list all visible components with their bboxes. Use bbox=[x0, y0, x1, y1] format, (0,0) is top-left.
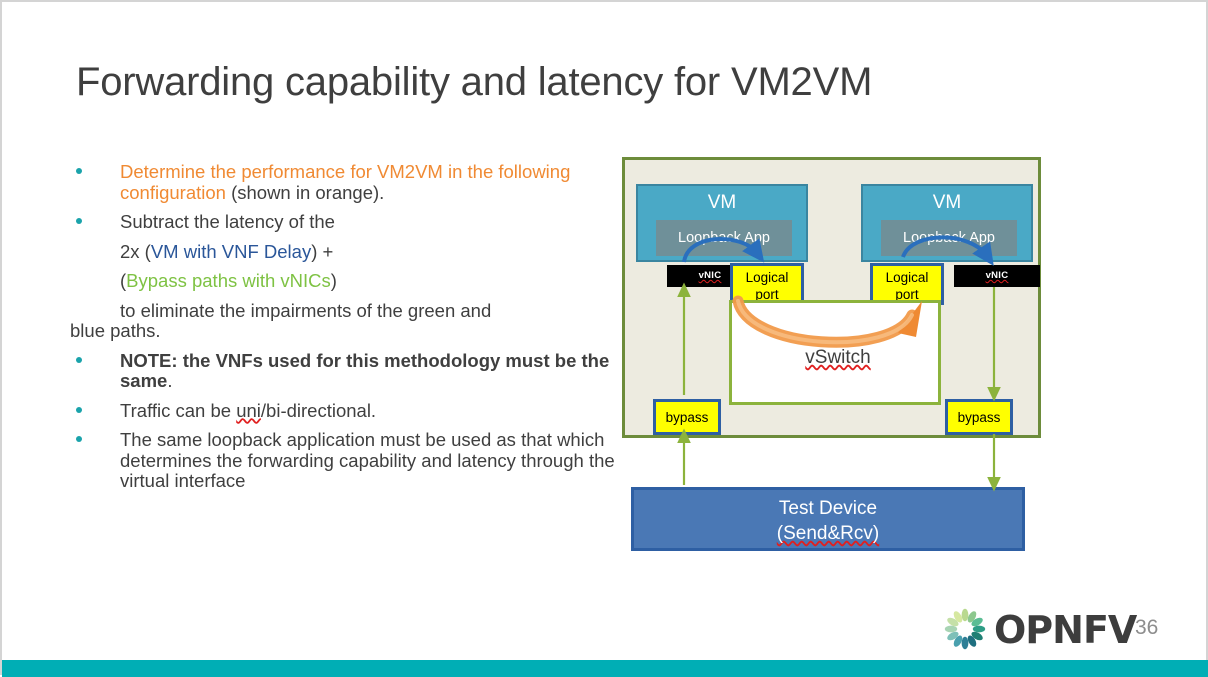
logical-port-left-line1: Logical bbox=[733, 269, 801, 286]
page-number: 36 bbox=[1135, 616, 1158, 640]
text-run: NOTE: the VNFs used for this methodology… bbox=[120, 350, 609, 392]
bullet-item: The same loopback application must be us… bbox=[70, 430, 615, 492]
bullet-item: Subtract the latency of the bbox=[70, 212, 615, 233]
text-run: Subtract the latency of the bbox=[120, 211, 335, 232]
vm-left: VM Loopback App bbox=[636, 184, 808, 262]
text-run: to eliminate the impairments of the gree… bbox=[120, 300, 491, 321]
vm-right-loopback-app: Loopback App bbox=[881, 220, 1017, 256]
opnfv-wordmark: OPNFV bbox=[994, 608, 1136, 652]
text-run: Bypass paths with vNICs bbox=[126, 270, 331, 291]
vnic-left-label: vNIC bbox=[699, 270, 722, 281]
vm-left-label: VM bbox=[638, 192, 806, 214]
text-run: ) + bbox=[311, 241, 333, 262]
test-device-line2: (Send&Rcv) bbox=[634, 523, 1022, 545]
vswitch-label: vSwitch bbox=[732, 347, 944, 369]
text-run: (shown in orange). bbox=[226, 182, 384, 203]
bullet-subline: 2x (VM with VNF Delay) + bbox=[70, 242, 615, 263]
bypass-right: bypass bbox=[945, 399, 1013, 435]
bullet-item: Traffic can be uni/bi-directional. bbox=[70, 401, 615, 422]
bullet-text: The same loopback application must be us… bbox=[120, 429, 615, 491]
bullet-dot-icon bbox=[76, 218, 82, 224]
bullet-dot-icon bbox=[76, 436, 82, 442]
bypass-left: bypass bbox=[653, 399, 721, 435]
text-run: blue paths. bbox=[70, 320, 161, 341]
test-device-line1: Test Device bbox=[779, 498, 877, 519]
vm-right-label: VM bbox=[863, 192, 1031, 214]
vswitch-box: vSwitch bbox=[729, 300, 941, 405]
bullet-dot-icon bbox=[76, 168, 82, 174]
logical-port-right: Logical port bbox=[870, 263, 944, 305]
footer: OPNFV 36 bbox=[942, 602, 1172, 652]
vnic-right-label: vNIC bbox=[986, 270, 1009, 281]
bullet-list: Determine the performance for VM2VM in t… bbox=[70, 162, 615, 501]
architecture-diagram: VM Loopback App VM Loopback App vNIC vNI… bbox=[622, 157, 1042, 559]
host-container: VM Loopback App VM Loopback App vNIC vNI… bbox=[622, 157, 1041, 438]
bullet-dot-icon bbox=[76, 407, 82, 413]
vm-left-loopback-app: Loopback App bbox=[656, 220, 792, 256]
text-run: VM with VNF Delay bbox=[151, 241, 311, 262]
bullet-text: (Bypass paths with vNICs) bbox=[120, 270, 337, 291]
vswitch-text: vSwitch bbox=[805, 347, 870, 368]
logical-port-right-line1: Logical bbox=[873, 269, 941, 286]
bullet-continuation: blue paths. bbox=[70, 321, 615, 342]
bullet-text: to eliminate the impairments of the gree… bbox=[120, 300, 491, 321]
text-run: Traffic can be bbox=[120, 400, 236, 421]
bullet-item: NOTE: the VNFs used for this methodology… bbox=[70, 351, 615, 392]
test-device-box: Test Device (Send&Rcv) bbox=[631, 487, 1025, 551]
slide-canvas: Forwarding capability and latency for VM… bbox=[0, 0, 1208, 675]
text-run: . bbox=[167, 370, 172, 391]
test-device-sendrcv: (Send&Rcv) bbox=[777, 523, 879, 544]
bullet-item: Determine the performance for VM2VM in t… bbox=[70, 162, 615, 203]
bullet-text: Traffic can be uni/bi-directional. bbox=[120, 400, 376, 421]
text-run: uni bbox=[236, 400, 261, 421]
bullet-subline: to eliminate the impairments of the gree… bbox=[70, 301, 615, 322]
vm-right: VM Loopback App bbox=[861, 184, 1033, 262]
text-run: 2x ( bbox=[120, 241, 151, 262]
page-title: Forwarding capability and latency for VM… bbox=[76, 60, 1076, 105]
bullet-text: Subtract the latency of the bbox=[120, 211, 335, 232]
bullet-text: NOTE: the VNFs used for this methodology… bbox=[120, 350, 609, 392]
logical-port-left: Logical port bbox=[730, 263, 804, 305]
bullet-subline: (Bypass paths with vNICs) bbox=[70, 271, 615, 292]
bottom-accent-bar bbox=[2, 660, 1208, 677]
bullet-text: blue paths. bbox=[70, 320, 161, 341]
bullet-dot-icon bbox=[76, 357, 82, 363]
bullet-text: 2x (VM with VNF Delay) + bbox=[120, 241, 333, 262]
text-run: /bi-directional. bbox=[261, 400, 376, 421]
vnic-right: vNIC bbox=[954, 265, 1040, 287]
opnfv-logo-icon bbox=[942, 608, 988, 650]
text-run: The same loopback application must be us… bbox=[120, 429, 615, 491]
bullet-text: Determine the performance for VM2VM in t… bbox=[120, 161, 570, 203]
text-run: ) bbox=[331, 270, 337, 291]
